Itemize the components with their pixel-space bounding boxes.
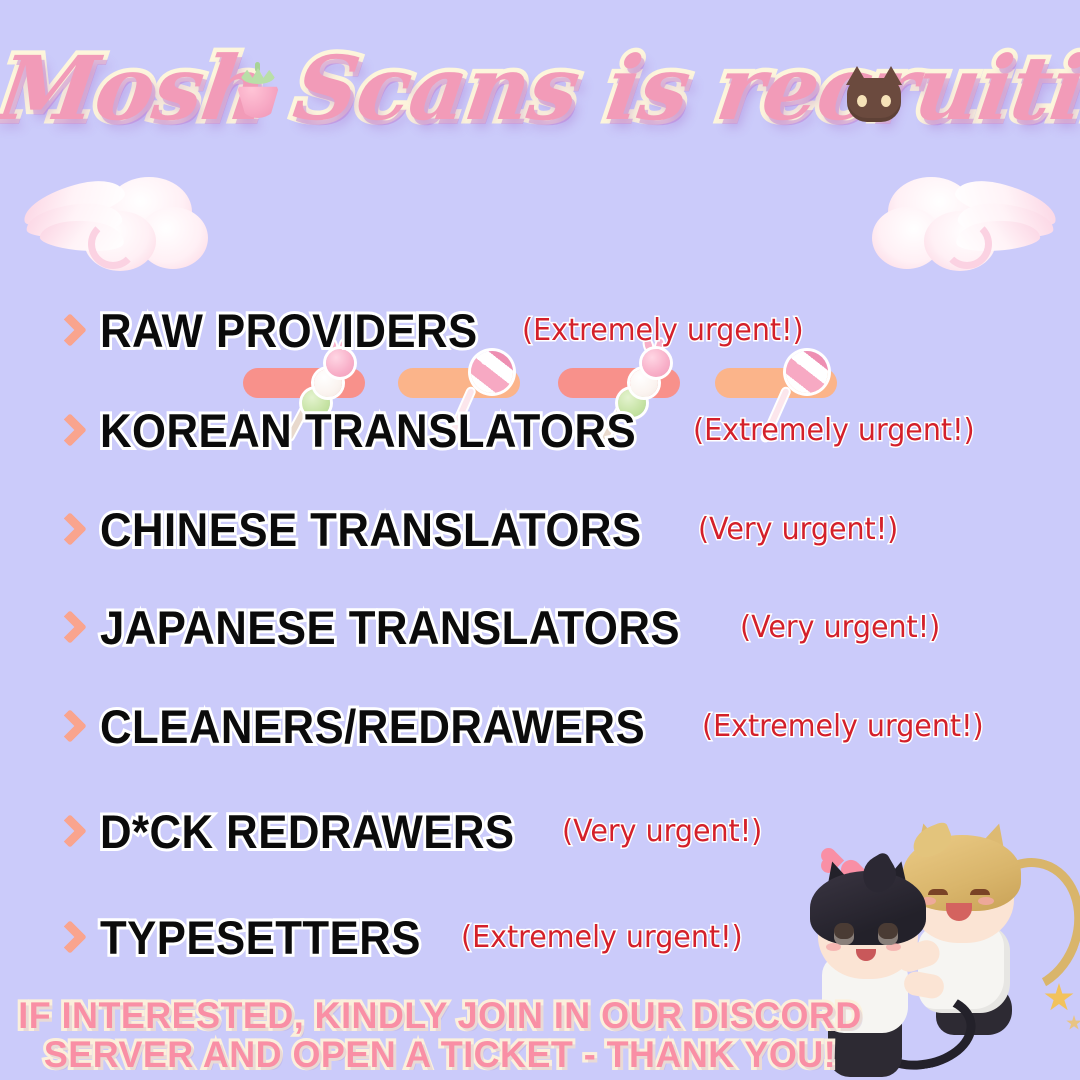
chevron-right-icon [56,411,82,451]
decorative-divider [0,163,1080,285]
role-name: KOREAN TRANSLATORS [100,405,636,457]
list-item: KOREAN TRANSLATORS (Extremely urgent!) [56,396,989,466]
role-name: CLEANERS/REDRAWERS [100,701,645,753]
list-item: CHINESE TRANSLATORS (Very urgent!) [56,495,909,565]
chevron-right-icon [56,812,82,852]
chevron-right-icon [56,707,82,747]
page-title: Mosh Scans is recruiting! [0,28,1080,148]
chevron-right-icon [56,510,82,550]
role-name: JAPANESE TRANSLATORS [100,602,680,654]
role-name: TYPESETTERS [100,912,421,964]
role-urgency-note: (Extremely urgent!) [461,920,743,956]
chevron-right-icon [56,918,82,958]
chevron-right-icon [56,311,82,351]
footer-line-1: IF INTERESTED, KINDLY JOIN IN OUR DISCOR… [13,996,867,1035]
role-urgency-note: (Very urgent!) [562,814,762,850]
role-urgency-note: (Extremely urgent!) [522,313,804,349]
footer-call-to-action: IF INTERESTED, KINDLY JOIN IN OUR DISCOR… [13,996,867,1074]
chevron-right-icon [56,608,82,648]
list-item: D*CK REDRAWERS (Very urgent!) [56,797,773,867]
role-urgency-note: (Extremely urgent!) [702,709,984,745]
list-item: CLEANERS/REDRAWERS (Extremely urgent!) [56,692,999,762]
strawberry-icon [232,62,284,118]
footer-line-2: SERVER AND OPEN A TICKET - THANK YOU! [13,1035,867,1074]
cloud-wing-right-icon [872,167,1062,279]
dark-eye [878,923,898,945]
star-icon [1066,1015,1080,1031]
title-block: Mosh Scans is recruiting! [0,28,1080,158]
role-urgency-note: (Very urgent!) [740,610,940,646]
role-urgency-note: (Very urgent!) [698,512,898,548]
blond-eye [928,889,948,895]
role-urgency-note: (Extremely urgent!) [693,413,975,449]
star-icon [1044,983,1074,1013]
list-item: RAW PROVIDERS (Extremely urgent!) [56,296,819,366]
dark-eye [834,923,854,945]
blond-blush [978,897,994,905]
role-name: CHINESE TRANSLATORS [100,504,641,556]
cat-head-icon [843,66,905,124]
cloud-wing-left-icon [18,167,208,279]
recruitment-poster: Mosh Scans is recruiting! [0,0,1080,1080]
blond-eye [970,889,990,895]
role-name: D*CK REDRAWERS [100,806,515,858]
role-name: RAW PROVIDERS [100,305,478,357]
list-item: TYPESETTERS (Extremely urgent!) [56,903,757,973]
list-item: JAPANESE TRANSLATORS (Very urgent!) [56,593,951,663]
